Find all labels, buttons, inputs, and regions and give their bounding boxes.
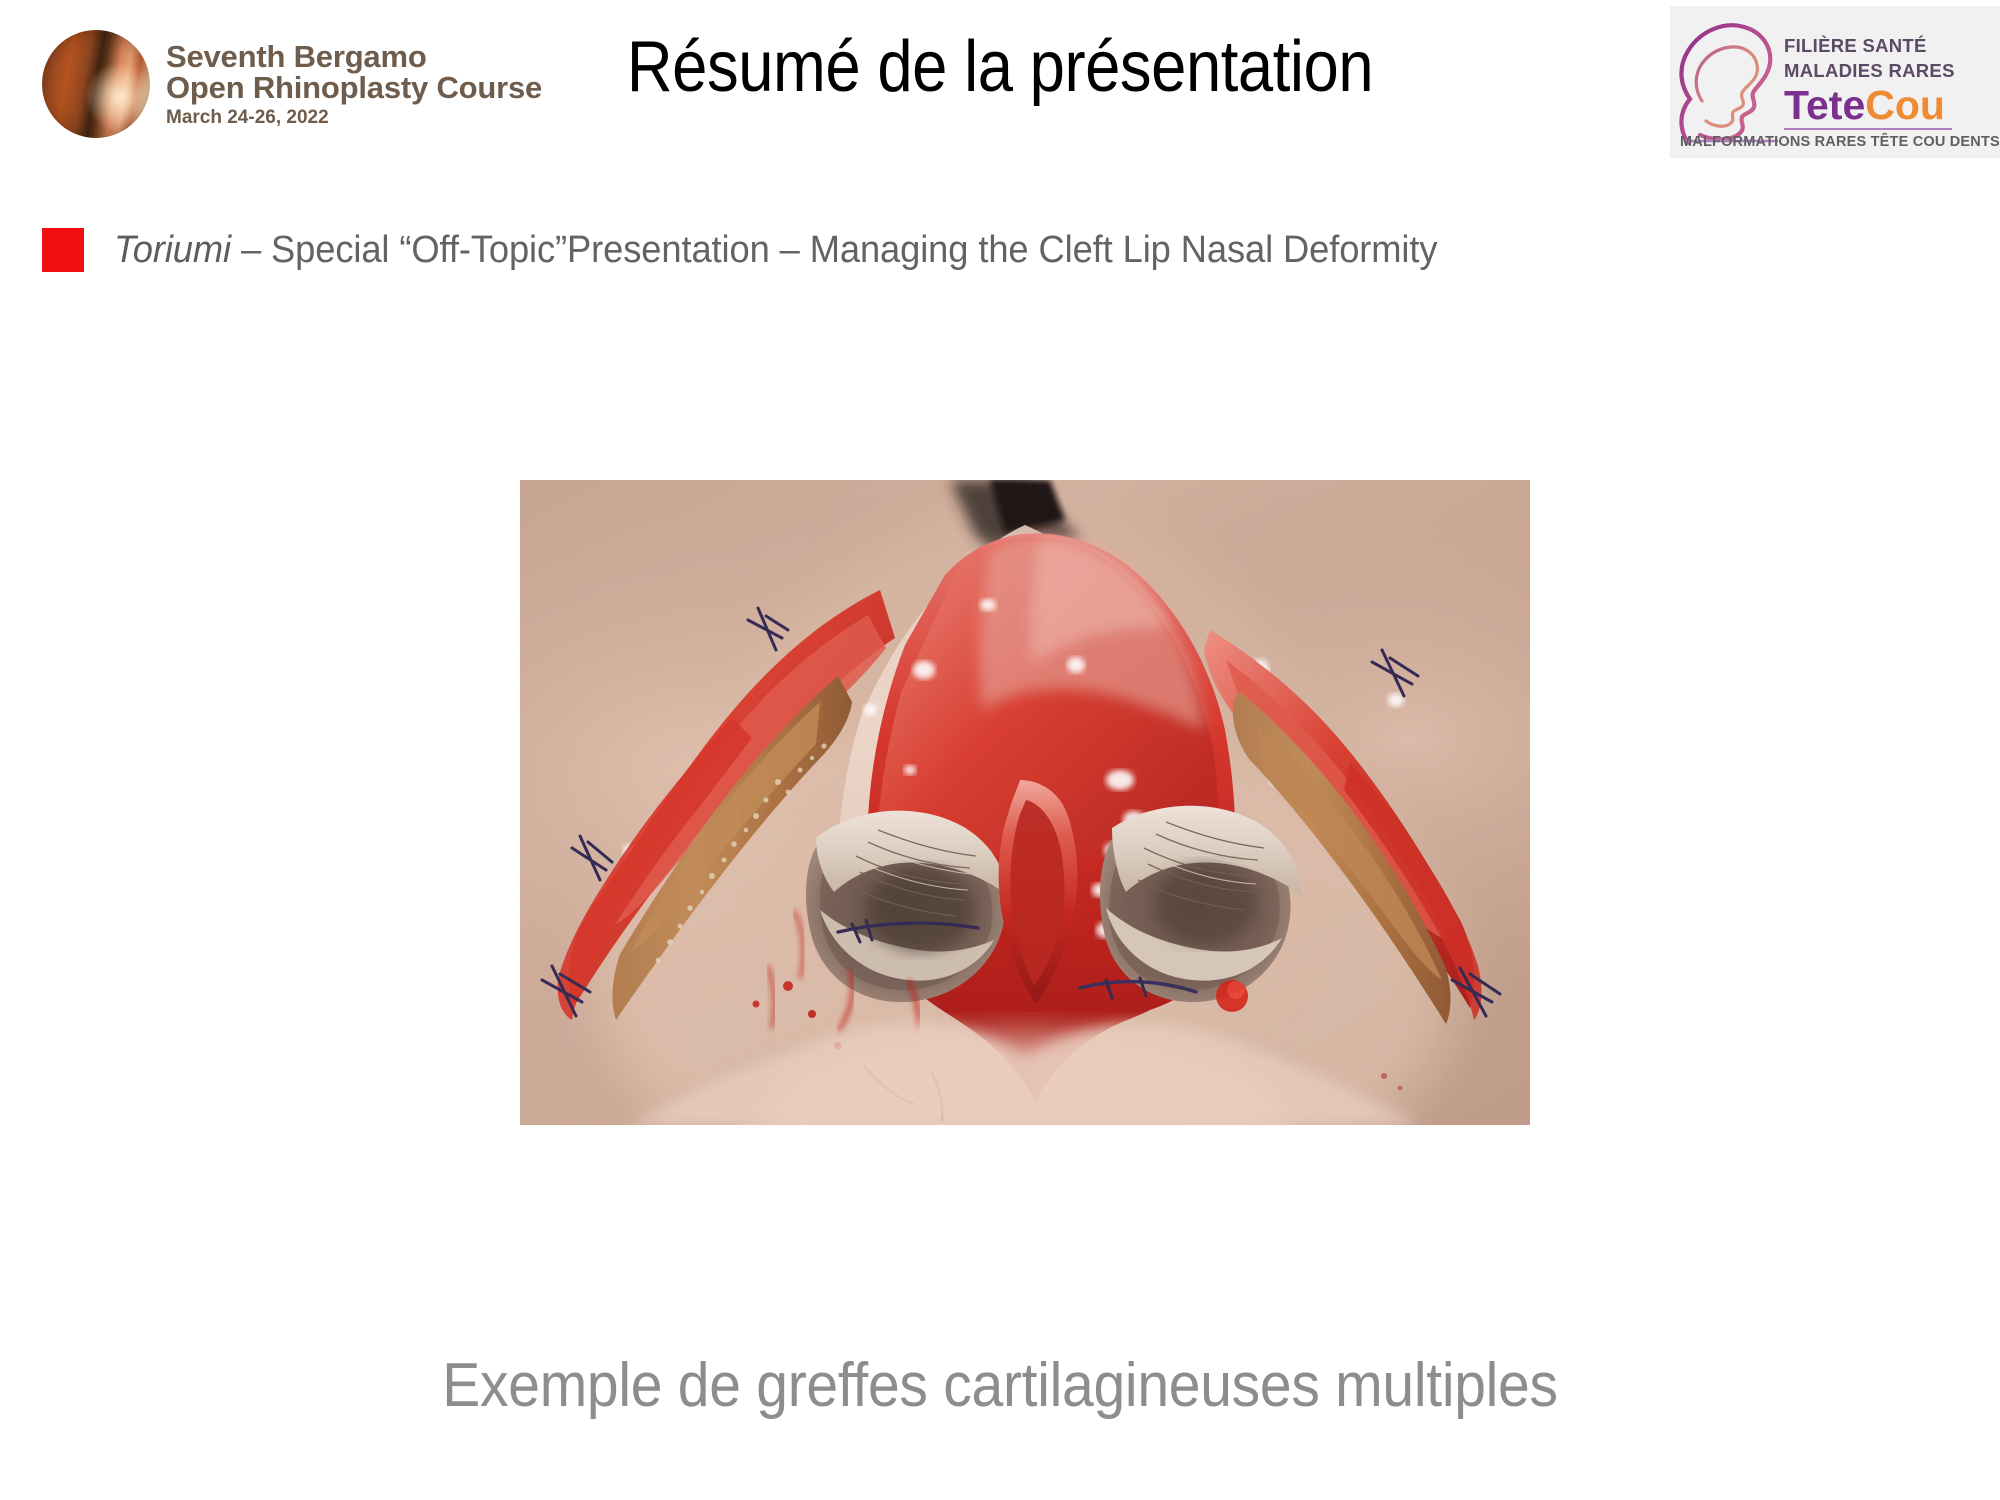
slide-caption: Exemple de greffes cartilagineuses multi… [80,1350,1920,1421]
intraoperative-cleft-lip-rhinoplasty-photo [520,480,1530,1125]
tetecou-logo: FILIÈRE SANTÉ MALADIES RARES TeteCou MAL… [1670,6,2000,158]
bullet-speaker-name: Toriumi [114,229,231,271]
head-profile-icon [1674,15,1782,149]
tetecou-logo-text: FILIÈRE SANTÉ MALADIES RARES TeteCou [1784,34,1955,130]
bullet-line: Toriumi – Special “Off-Topic”Presentatio… [42,228,1980,272]
course-dates: March 24-26, 2022 [166,108,542,127]
tetecou-underline [1784,128,1952,130]
tetecou-brand-cou: Cou [1865,82,1945,128]
tetecou-footer: MALFORMATIONS RARES TÊTE COU DENTS [1680,134,2000,150]
red-square-bullet-icon [42,228,84,272]
tetecou-brand: TeteCou [1784,85,1955,126]
bullet-rest-text: – Special “Off-Topic”Presentation – Mana… [231,229,1437,271]
tetecou-line2: MALADIES RARES [1784,59,1955,84]
tetecou-brand-tete: Tete [1784,82,1865,128]
tetecou-line1: FILIÈRE SANTÉ [1784,34,1955,59]
bullet-text: Toriumi – Special “Off-Topic”Presentatio… [114,229,1437,272]
page-title: Résumé de la présentation [120,26,1880,108]
